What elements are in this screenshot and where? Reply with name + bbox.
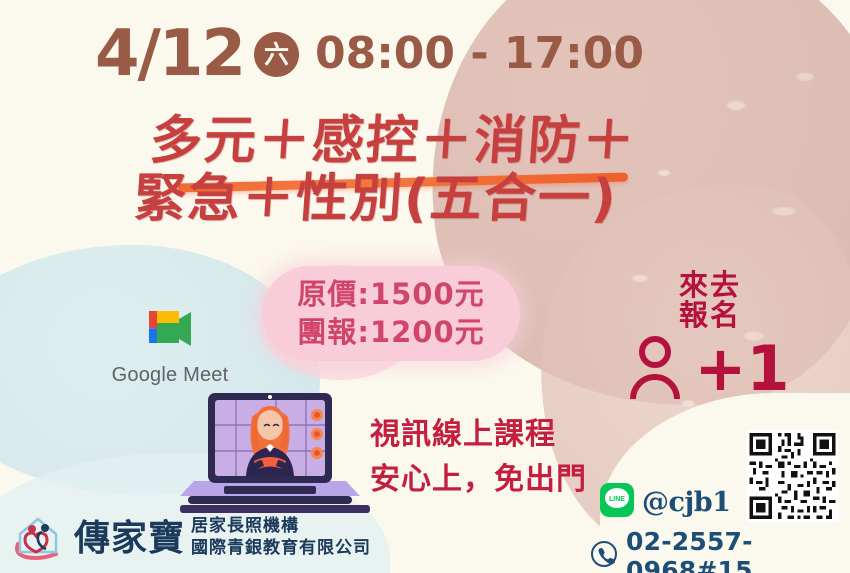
brand-name: 傳家寶 (74, 520, 185, 556)
svg-text:LINE: LINE (609, 496, 625, 503)
laptop-video-lesson-illustration (180, 385, 360, 515)
signup-icon-row: +1 (645, 335, 775, 404)
platform-block: Google Meet (95, 305, 245, 387)
group-price: 團報:1200元 (297, 314, 484, 351)
signup-label-line-1: 來去 (645, 270, 775, 300)
google-meet-icon (141, 342, 199, 359)
poster-root: 4/12 六 08:00 - 17:00 多元＋感控＋消防＋ 緊急＋性別(五合一… (0, 0, 850, 573)
qr-code[interactable] (745, 430, 840, 522)
original-price: 原價:1500元 (297, 276, 484, 313)
signup-plus-one: +1 (694, 338, 789, 400)
event-datetime-row: 4/12 六 08:00 - 17:00 (95, 22, 644, 86)
line-id: @cjb1 (642, 487, 730, 518)
event-date: 4/12 (95, 22, 244, 86)
platform-name: Google Meet (95, 364, 245, 387)
course-description: 視訊線上課程 安心上，免出門 (370, 412, 587, 502)
signup-cta[interactable]: 來去 報名 +1 (645, 270, 775, 404)
event-time-range: 08:00 - 17:00 (315, 32, 644, 76)
line-contact-row[interactable]: LINE @cjb1 (600, 483, 730, 522)
course-title-line-2: 緊急＋性別(五合一) (132, 170, 752, 228)
course-description-line-1: 視訊線上課程 (370, 412, 587, 457)
price-badge: 原價:1500元 團報:1200元 (262, 266, 520, 361)
brand-subtitle-line-1: 居家長照機構 (191, 516, 371, 537)
course-title-line-1: 多元＋感控＋消防＋ (148, 112, 752, 170)
course-description-line-2: 安心上，免出門 (370, 457, 587, 502)
line-app-icon: LINE (600, 483, 634, 522)
brand-footer: 傳家寶 居家長照機構 國際青銀教育有限公司 (8, 508, 371, 567)
brand-subtitle-line-2: 國際青銀教育有限公司 (191, 538, 371, 559)
phone-icon (590, 540, 618, 573)
weekday-badge: 六 (254, 32, 299, 77)
course-title: 多元＋感控＋消防＋ 緊急＋性別(五合一) (150, 112, 750, 228)
house-heart-logo (8, 508, 70, 567)
phone-number: 02-2557-0968#15 (626, 527, 850, 573)
phone-contact-row[interactable]: 02-2557-0968#15 (590, 527, 850, 573)
brand-subtitle: 居家長照機構 國際青銀教育有限公司 (191, 516, 371, 559)
person-add-icon (630, 335, 692, 404)
signup-label-line-2: 報名 (645, 300, 775, 330)
